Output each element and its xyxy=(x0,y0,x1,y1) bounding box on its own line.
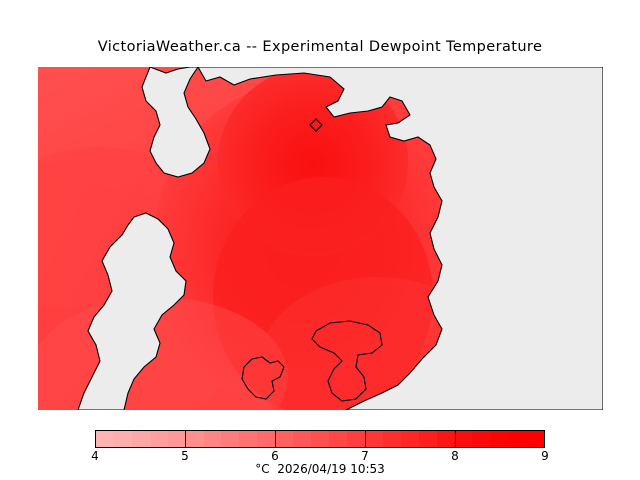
colorbar-label-9: 9 xyxy=(541,449,549,463)
colorbar-band-4 xyxy=(168,431,186,447)
colorbar-band-23 xyxy=(508,431,526,447)
colorbar: 456789 xyxy=(95,430,545,448)
page-title: VictoriaWeather.ca -- Experimental Dewpo… xyxy=(0,39,640,55)
colorbar-band-14 xyxy=(347,431,365,447)
colorbar-band-21 xyxy=(472,431,490,447)
colorbar-band-3 xyxy=(150,431,168,447)
weather-map-page: VictoriaWeather.ca -- Experimental Dewpo… xyxy=(0,0,640,480)
colorbar-band-10 xyxy=(275,431,293,447)
colorbar-tick-5 xyxy=(185,430,186,448)
colorbar-band-16 xyxy=(383,431,401,447)
colorbar-tick-6 xyxy=(275,430,276,448)
colorbar-band-2 xyxy=(132,431,150,447)
colorbar-band-8 xyxy=(239,431,257,447)
colorbar-tick-8 xyxy=(455,430,456,448)
colorbar-band-13 xyxy=(329,431,347,447)
colorbar-band-5 xyxy=(186,431,204,447)
colorbar-gradient xyxy=(95,430,545,448)
colorbar-band-9 xyxy=(257,431,275,447)
colorbar-band-17 xyxy=(401,431,419,447)
colorbar-tick-7 xyxy=(365,430,366,448)
colorbar-band-1 xyxy=(114,431,132,447)
colorbar-band-0 xyxy=(96,431,114,447)
colorbar-band-7 xyxy=(221,431,239,447)
colorbar-label-8: 8 xyxy=(451,449,459,463)
colorbar-label-7: 7 xyxy=(361,449,369,463)
colorbar-label-6: 6 xyxy=(271,449,279,463)
colorbar-band-19 xyxy=(437,431,455,447)
colorbar-band-18 xyxy=(419,431,437,447)
colorbar-caption: °C 2026/04/19 10:53 xyxy=(0,462,640,476)
colorbar-label-5: 5 xyxy=(181,449,189,463)
colorbar-band-24 xyxy=(526,431,544,447)
dewpoint-map[interactable] xyxy=(38,67,603,410)
colorbar-label-4: 4 xyxy=(91,449,99,463)
colorbar-band-20 xyxy=(454,431,472,447)
colorbar-band-15 xyxy=(365,431,383,447)
map-panel[interactable] xyxy=(38,67,603,410)
colorbar-band-12 xyxy=(311,431,329,447)
colorbar-band-11 xyxy=(293,431,311,447)
colorbar-band-22 xyxy=(490,431,508,447)
colorbar-band-6 xyxy=(204,431,222,447)
